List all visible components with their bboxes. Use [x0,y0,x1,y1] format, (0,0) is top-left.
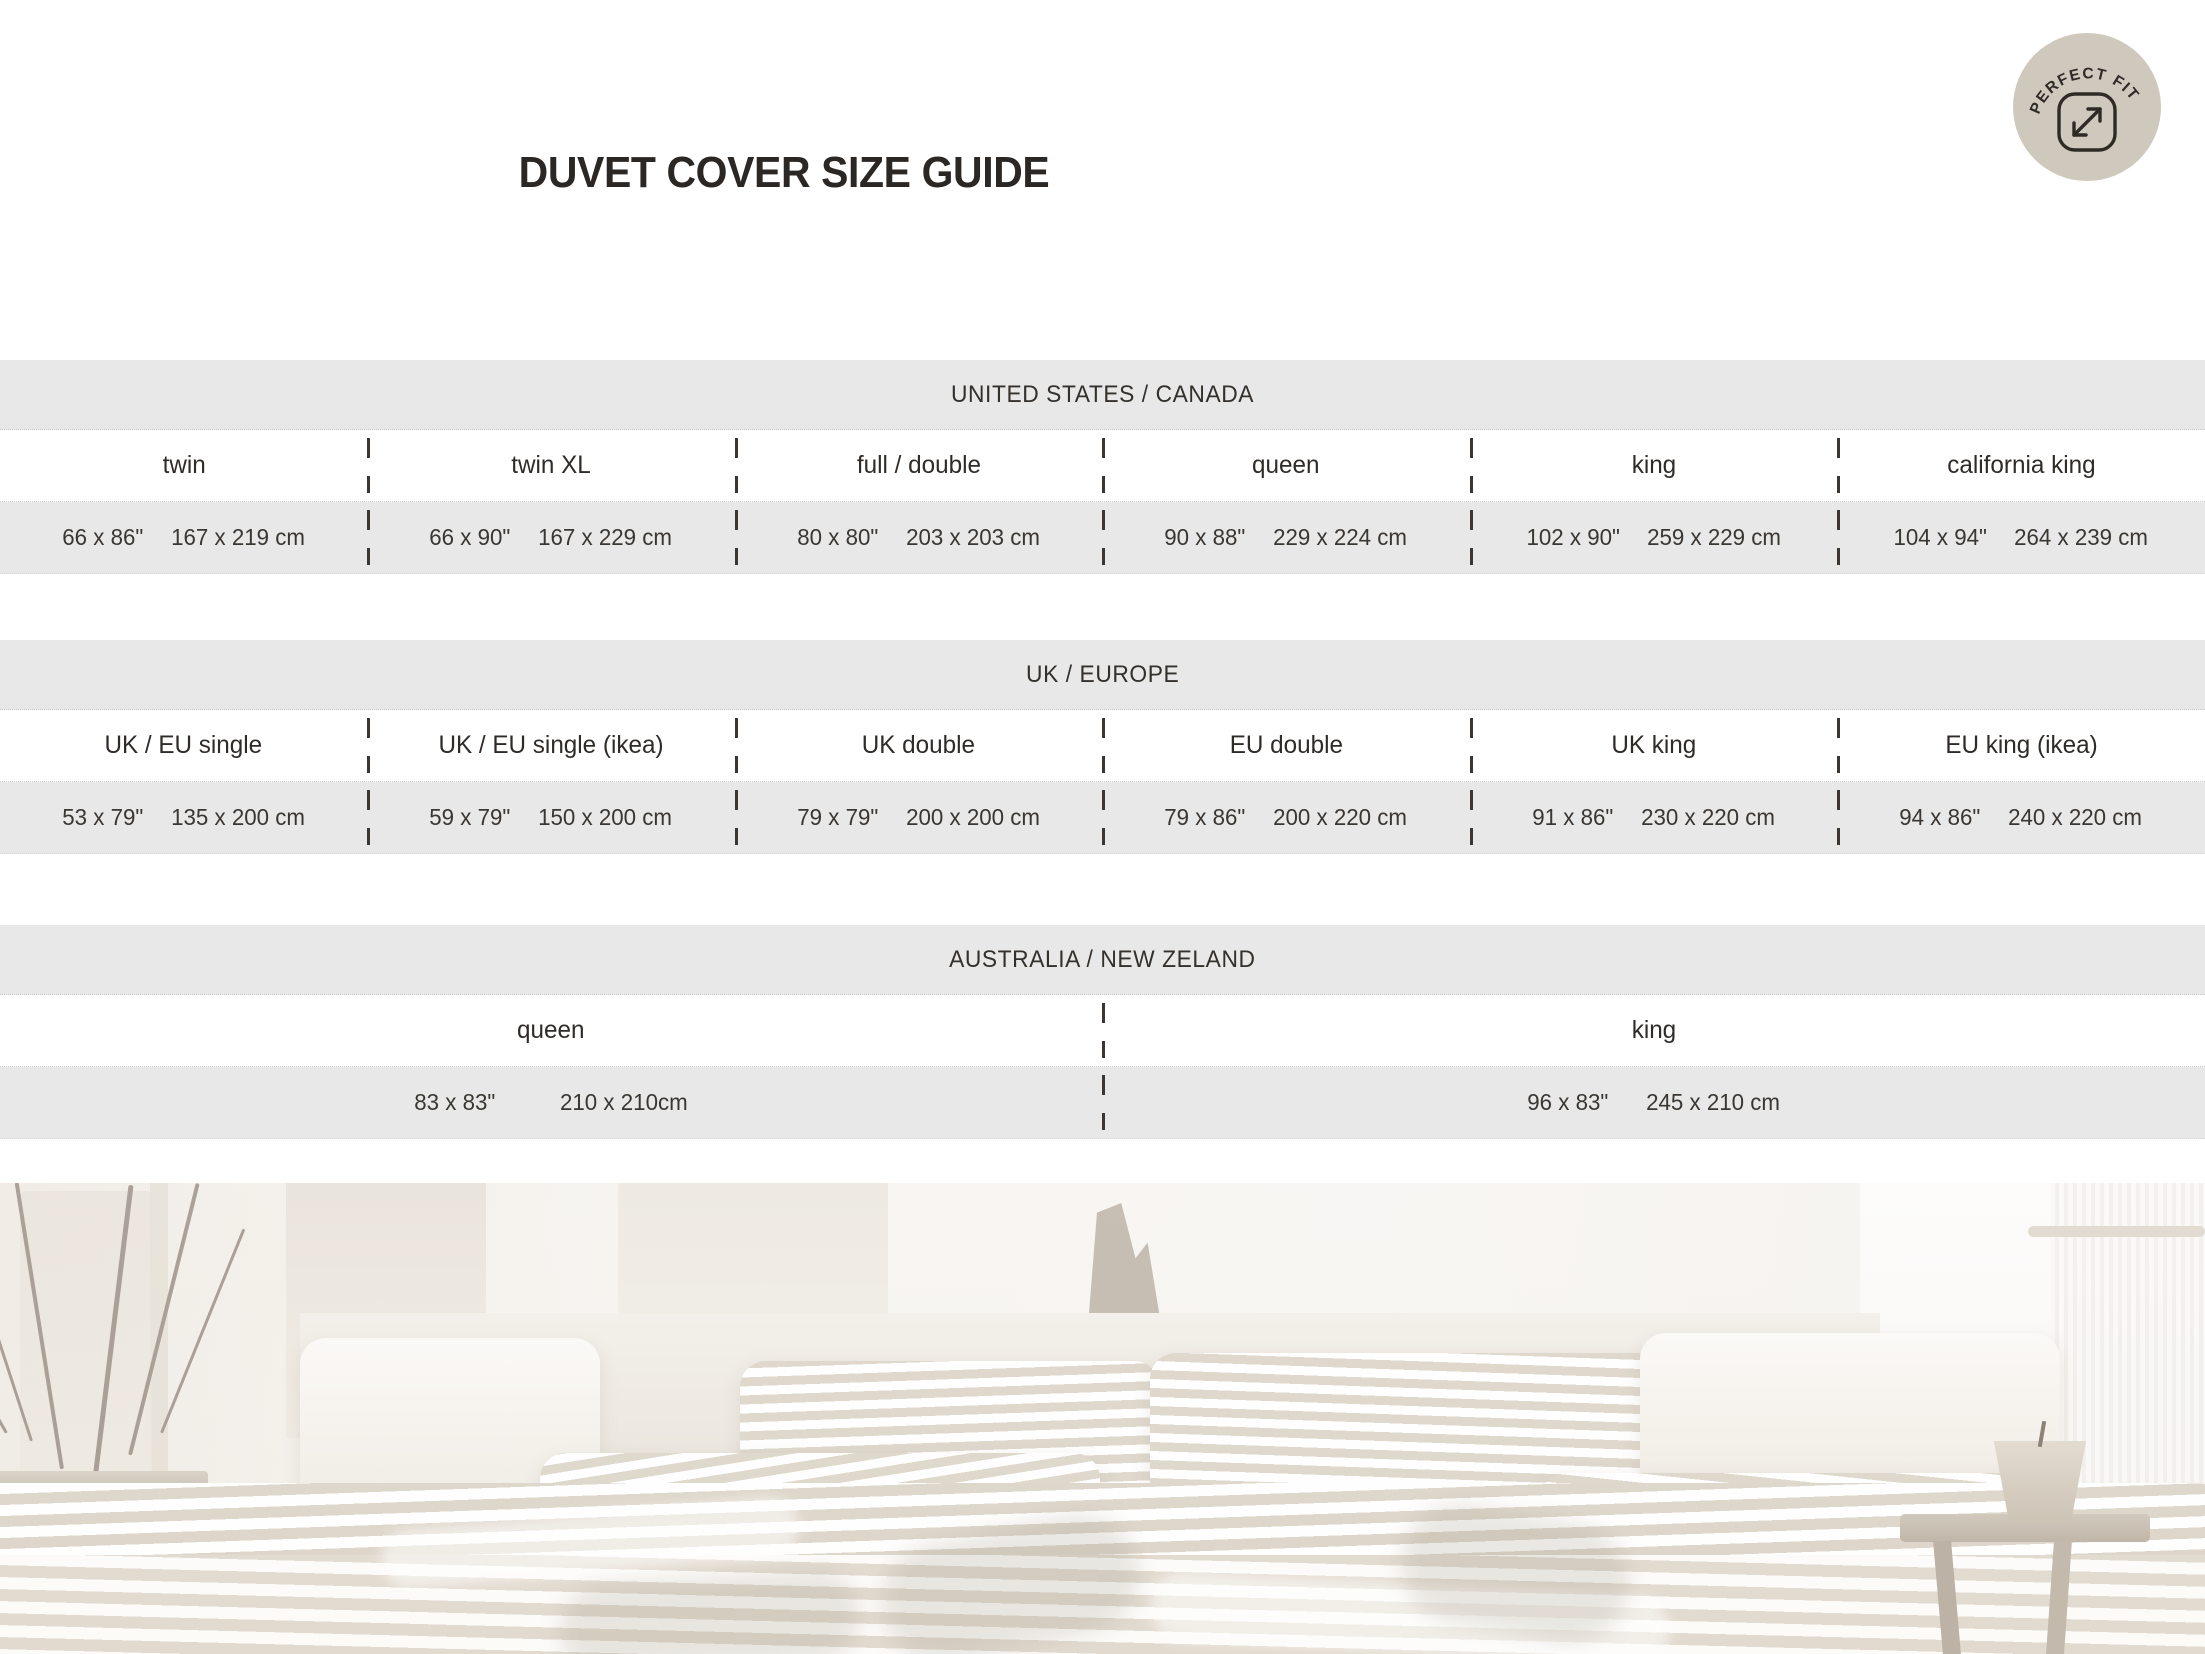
size-inches: 91 x 86" [1532,804,1613,831]
size-cm: 167 x 219 cm [171,524,305,551]
size-name: queen [518,1016,585,1045]
size-inches: 79 x 79" [797,804,878,831]
table-cell-values: 94 x 86"240 x 220 cm [1838,782,2205,853]
table-cell-label: king [1470,430,1838,501]
size-name: EU double [1230,731,1343,760]
region-title: AUSTRALIA / NEW ZELAND [949,946,1255,974]
table-cell-label: twin XL [368,430,736,501]
table-cell-values: 66 x 86"167 x 219 cm [0,502,368,573]
table-cell-label: twin [0,430,368,501]
size-inches: 53 x 79" [62,804,143,831]
size-name: king [1632,451,1676,480]
size-table-australia-newzealand: AUSTRALIA / NEW ZELAND queen king 83 x 8… [0,925,2205,1139]
size-cm: 264 x 239 cm [2014,524,2148,551]
size-cm: 245 x 210 cm [1646,1089,1780,1116]
size-inches: 96 x 83" [1527,1089,1608,1116]
size-table-us-canada: UNITED STATES / CANADA twin twin XL full… [0,360,2205,574]
size-name: king [1632,1016,1676,1045]
region-title: UNITED STATES / CANADA [951,381,1254,409]
size-cm: 230 x 220 cm [1641,804,1775,831]
table-header-band: AUSTRALIA / NEW ZELAND [0,925,2205,995]
size-cm: 259 x 229 cm [1647,524,1781,551]
table-cell-values: 79 x 79"200 x 200 cm [735,782,1103,853]
size-name: twin [162,451,205,480]
photo-scene [0,1183,2205,1654]
size-cm: 135 x 200 cm [171,804,305,831]
table-label-row: queen king [0,995,2205,1067]
size-name: UK / EU single [105,731,263,760]
table-cell-values: 83 x 83"210 x 210cm [0,1067,1103,1138]
size-name: full / double [857,451,981,480]
table-cell-label: full / double [735,430,1103,501]
table-cell-values: 90 x 88"229 x 224 cm [1103,502,1471,573]
table-values-row: 83 x 83"210 x 210cm 96 x 83"245 x 210 cm [0,1067,2205,1139]
table-cell-label: UK / EU single [0,710,368,781]
page-title: DUVET COVER SIZE GUIDE [55,148,1513,198]
curtain-rod [2028,1226,2205,1237]
size-cm: 240 x 220 cm [2008,804,2142,831]
size-cm: 203 x 203 cm [906,524,1040,551]
table-values-row: 66 x 86"167 x 219 cm 66 x 90"167 x 229 c… [0,502,2205,574]
table-cell-values: 91 x 86"230 x 220 cm [1470,782,1838,853]
size-name: california king [1947,451,2095,480]
table-cell-label: UK / EU single (ikea) [368,710,736,781]
size-inches: 102 x 90" [1526,524,1620,551]
bedroom-lifestyle-photo [0,1183,2205,1654]
table-cell-values: 53 x 79"135 x 200 cm [0,782,368,853]
table-cell-label: king [1103,995,2205,1066]
size-inches: 80 x 80" [797,524,878,551]
size-cm: 210 x 210cm [560,1089,688,1116]
size-name: twin XL [511,451,591,480]
table-label-row: UK / EU single UK / EU single (ikea) UK … [0,710,2205,782]
size-name: UK / EU single (ikea) [439,731,664,760]
table-cell-label: EU king (ikea) [1838,710,2205,781]
table-label-row: twin twin XL full / double queen king ca… [0,430,2205,502]
size-inches: 66 x 86" [62,524,143,551]
size-name: UK double [862,731,975,760]
size-cm: 167 x 229 cm [538,524,672,551]
table-cell-label: california king [1838,430,2205,501]
size-cm: 229 x 224 cm [1273,524,1407,551]
table-header-band: UK / EUROPE [0,640,2205,710]
table-values-row: 53 x 79"135 x 200 cm 59 x 79"150 x 200 c… [0,782,2205,854]
size-name: EU king (ikea) [1945,731,2097,760]
size-inches: 90 x 88" [1165,524,1246,551]
size-cm: 200 x 220 cm [1273,804,1407,831]
size-inches: 94 x 86" [1900,804,1981,831]
table-cell-label: EU double [1103,710,1471,781]
size-inches: 66 x 90" [430,524,511,551]
size-name: UK king [1611,731,1696,760]
table-header-band: UNITED STATES / CANADA [0,360,2205,430]
duvet-size-guide-page: PERFECT FIT DUVET COVER SIZE GUIDE UNITE… [0,0,2205,1654]
size-table-uk-europe: UK / EUROPE UK / EU single UK / EU singl… [0,640,2205,854]
table-cell-label: UK double [735,710,1103,781]
table-cell-label: UK king [1470,710,1838,781]
table-cell-label: queen [0,995,1103,1066]
table-cell-values: 79 x 86"200 x 220 cm [1103,782,1471,853]
size-inches: 83 x 83" [414,1089,495,1116]
table-cell-label: queen [1103,430,1471,501]
table-cell-values: 66 x 90"167 x 229 cm [368,502,736,573]
table-cell-values: 102 x 90"259 x 229 cm [1470,502,1838,573]
region-title: UK / EUROPE [1026,661,1179,689]
table-cell-values: 80 x 80"203 x 203 cm [735,502,1103,573]
perfect-fit-badge: PERFECT FIT [2013,33,2161,181]
size-name: queen [1253,451,1320,480]
table-cell-values: 96 x 83"245 x 210 cm [1103,1067,2205,1138]
table-cell-values: 104 x 94"264 x 239 cm [1838,502,2205,573]
table-cell-values: 59 x 79"150 x 200 cm [368,782,736,853]
size-inches: 59 x 79" [430,804,511,831]
size-inches: 79 x 86" [1165,804,1246,831]
resize-diagonal-arrow-icon [2056,91,2118,153]
size-cm: 150 x 200 cm [538,804,672,831]
size-cm: 200 x 200 cm [906,804,1040,831]
size-inches: 104 x 94" [1893,524,1987,551]
